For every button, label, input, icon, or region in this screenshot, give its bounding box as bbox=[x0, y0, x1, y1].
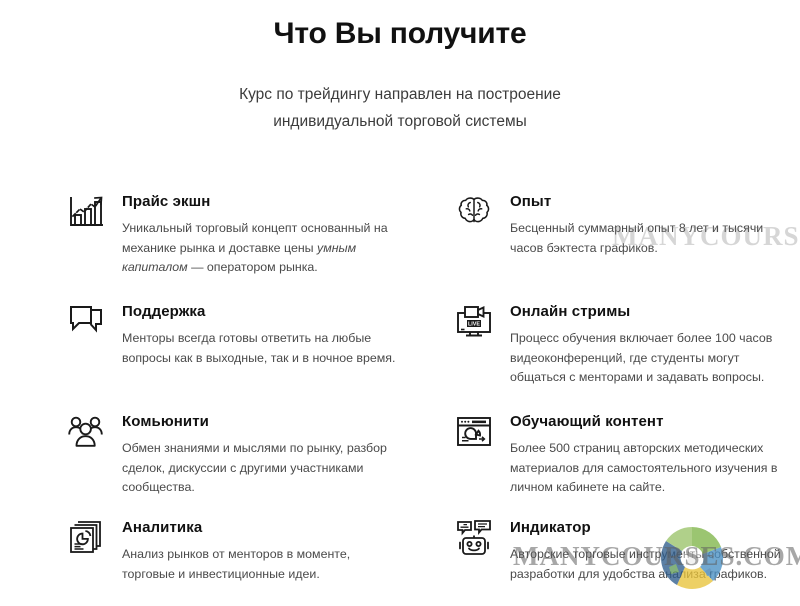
feature-description: Процесс обучения включает более 100 часо… bbox=[510, 322, 794, 388]
feature-desc-text: Авторские торговые инструменты собственн… bbox=[510, 547, 781, 581]
feature-item-learning-content: Обучающий контент Более 500 страниц авто… bbox=[454, 410, 794, 516]
feature-description: Обмен знаниями и мыслями по рынку, разбо… bbox=[122, 432, 406, 498]
feature-desc-text: Обмен знаниями и мыслями по рынку, разбо… bbox=[122, 441, 387, 494]
feature-title: Индикатор bbox=[510, 516, 794, 538]
feature-description: Более 500 страниц авторских методических… bbox=[510, 432, 794, 498]
feature-desc-text: Анализ рынков от менторов в моменте, тор… bbox=[122, 547, 350, 581]
feature-desc-text: Процесс обучения включает более 100 часо… bbox=[510, 331, 772, 384]
growth-chart-icon bbox=[66, 192, 106, 232]
feature-title: Онлайн стримы bbox=[510, 300, 794, 322]
feature-description: Анализ рынков от менторов в моменте, тор… bbox=[122, 538, 406, 584]
feature-title: Аналитика bbox=[122, 516, 406, 538]
speech-bubbles-icon bbox=[66, 302, 106, 342]
feature-desc-text: Более 500 страниц авторских методических… bbox=[510, 441, 778, 494]
browser-window-icon bbox=[454, 412, 494, 452]
feature-item-online-streams: LIVE Онлайн стримы Процесс обучения вклю… bbox=[454, 300, 794, 410]
feature-desc-text: Менторы всегда готовы ответить на любые … bbox=[122, 331, 395, 365]
feature-column-left: Прайс экшн Уникальный торговый концепт о… bbox=[66, 190, 406, 606]
robot-icon bbox=[454, 518, 494, 558]
feature-item-analytics: Аналитика Анализ рынков от менторов в мо… bbox=[66, 516, 406, 606]
feature-description: Менторы всегда готовы ответить на любые … bbox=[122, 322, 406, 368]
feature-description: Бесценный суммарный опыт 8 лет и тысячи … bbox=[510, 212, 794, 258]
feature-title: Прайс экшн bbox=[122, 190, 406, 212]
page-subtitle-line-1: Курс по трейдингу направлен на построени… bbox=[0, 81, 800, 108]
feature-column-right: Опыт Бесценный суммарный опыт 8 лет и ты… bbox=[454, 190, 794, 606]
page-root: Что Вы получите Курс по трейдингу направ… bbox=[0, 0, 800, 600]
feature-item-community: Комьюнити Обмен знаниями и мыслями по ры… bbox=[66, 410, 406, 516]
feature-description: Уникальный торговый концепт основанный н… bbox=[122, 212, 406, 278]
live-monitor-icon: LIVE bbox=[454, 302, 494, 342]
feature-title: Поддержка bbox=[122, 300, 406, 322]
people-group-icon bbox=[66, 412, 106, 452]
feature-grid: Прайс экшн Уникальный торговый концепт о… bbox=[0, 190, 800, 606]
feature-item-experience: Опыт Бесценный суммарный опыт 8 лет и ты… bbox=[454, 190, 794, 300]
page-subtitle: Курс по трейдингу направлен на построени… bbox=[0, 52, 800, 135]
feature-title: Обучающий контент bbox=[510, 410, 794, 432]
feature-title: Опыт bbox=[510, 190, 794, 212]
feature-title: Комьюнити bbox=[122, 410, 406, 432]
feature-item-indicator: Индикатор Авторские торговые инструменты… bbox=[454, 516, 794, 606]
feature-item-support: Поддержка Менторы всегда готовы ответить… bbox=[66, 300, 406, 410]
page-header: Что Вы получите Курс по трейдингу направ… bbox=[0, 0, 800, 135]
feature-description: Авторские торговые инструменты собственн… bbox=[510, 538, 794, 584]
brain-icon bbox=[454, 192, 494, 232]
svg-text:LIVE: LIVE bbox=[468, 322, 480, 328]
report-document-icon bbox=[66, 518, 106, 558]
page-subtitle-line-2: индивидуальной торговой системы bbox=[0, 108, 800, 135]
feature-item-price-action: Прайс экшн Уникальный торговый концепт о… bbox=[66, 190, 406, 300]
feature-desc-tail: — оператором рынка. bbox=[188, 260, 318, 274]
page-title: Что Вы получите bbox=[0, 16, 800, 52]
feature-desc-text: Бесценный суммарный опыт 8 лет и тысячи … bbox=[510, 221, 763, 255]
